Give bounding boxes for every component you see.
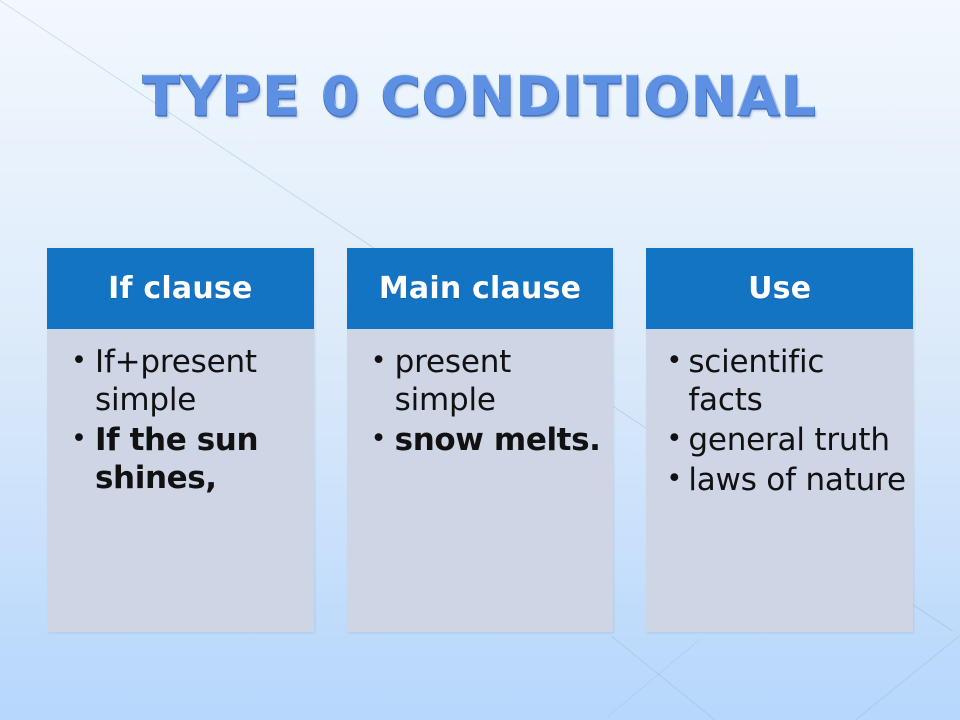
slide-title: TYPE 0 CONDITIONAL: [0, 66, 960, 128]
table-column-main-clause: Main clause present simple snow melts.: [347, 248, 614, 632]
column-header-if-clause: If clause: [47, 248, 314, 329]
list-item: laws of nature: [648, 461, 907, 499]
column-header-main-clause: Main clause: [347, 248, 614, 329]
bullet-list-main-clause: present simple snow melts.: [349, 343, 608, 459]
column-body-if-clause: If+present simple If the sun shines,: [47, 329, 314, 632]
list-item: If+present simple: [49, 343, 308, 419]
list-item: If the sun shines,: [49, 421, 308, 497]
table-column-if-clause: If clause If+present simple If the sun s…: [47, 248, 314, 632]
decorative-diagonal-line: [607, 639, 700, 717]
bullet-list-if-clause: If+present simple If the sun shines,: [49, 343, 308, 497]
list-item: scientific facts: [648, 343, 907, 419]
list-item: present simple: [349, 343, 608, 419]
column-body-use: scientific facts general truth laws of n…: [646, 329, 913, 632]
decorative-diagonal-line: [788, 635, 960, 720]
conditional-table: If clause If+present simple If the sun s…: [47, 248, 913, 632]
decorative-diagonal-line: [611, 636, 767, 720]
table-column-use: Use scientific facts general truth laws …: [646, 248, 913, 632]
slide-canvas: TYPE 0 CONDITIONAL If clause If+present …: [0, 0, 960, 720]
list-item: snow melts.: [349, 421, 608, 459]
list-item: general truth: [648, 421, 907, 459]
column-header-use: Use: [646, 248, 913, 329]
bullet-list-use: scientific facts general truth laws of n…: [648, 343, 907, 499]
column-body-main-clause: present simple snow melts.: [347, 329, 614, 632]
